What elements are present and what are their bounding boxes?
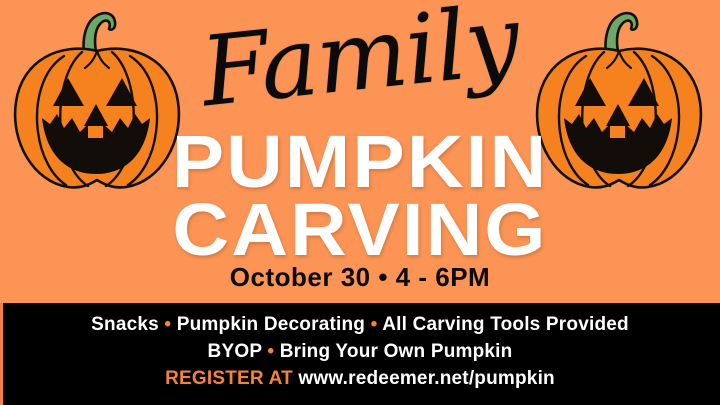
feature-decorating: Pumpkin Decorating	[177, 314, 365, 335]
banner-line-byop: BYOP • Bring Your Own Pumpkin	[0, 341, 720, 363]
register-url[interactable]: www.redeemer.net/pumpkin	[298, 368, 554, 389]
info-banner: Snacks • Pumpkin Decorating • All Carvin…	[0, 303, 720, 405]
register-label: REGISTER AT	[165, 368, 293, 389]
title-line-carving: CARVING	[0, 196, 720, 264]
feature-snacks: Snacks	[91, 314, 159, 335]
banner-line-features: Snacks • Pumpkin Decorating • All Carvin…	[0, 314, 720, 336]
flyer-canvas: PUMPKIN CARVING Family October 30 • 4 - …	[0, 0, 720, 405]
banner-line-register: REGISTER AT www.redeemer.net/pumpkin	[0, 368, 720, 390]
event-date-time: October 30 • 4 - 6PM	[0, 262, 720, 293]
title-line-pumpkin: PUMPKIN	[0, 128, 720, 196]
byop-acronym: BYOP	[208, 341, 262, 362]
feature-tools: All Carving Tools Provided	[382, 314, 629, 335]
byop-expansion: Bring Your Own Pumpkin	[280, 341, 513, 362]
banner-left-accent-strip	[0, 303, 3, 405]
bullet-separator-icon: •	[371, 314, 378, 335]
bullet-separator-icon: •	[267, 341, 274, 362]
bullet-separator-icon: •	[164, 314, 171, 335]
